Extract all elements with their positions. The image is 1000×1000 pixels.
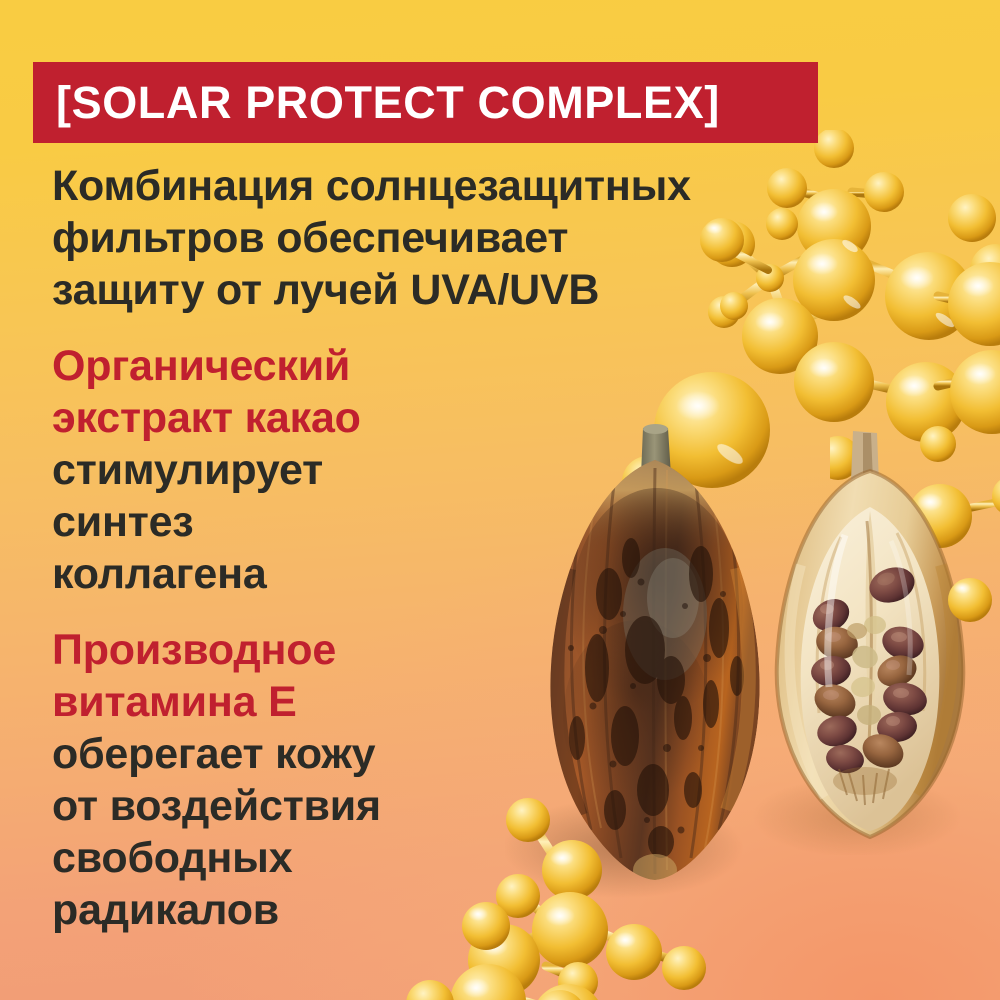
poster-canvas: [SOLAR PROTECT COMPLEX] Комбинация солнц… — [0, 0, 1000, 1000]
copy-line-accent: витамина Е — [52, 676, 852, 728]
copy-line: от воздействия — [52, 780, 852, 832]
copy-line-accent: Органический — [52, 340, 852, 392]
paragraph-uva-uvb: Комбинация солнцезащитных фильтров обесп… — [52, 160, 852, 316]
copy-line: синтез — [52, 496, 852, 548]
solar-protect-banner: [SOLAR PROTECT COMPLEX] — [33, 62, 818, 143]
copy-line: фильтров обеспечивает — [52, 212, 852, 264]
copy-line: радикалов — [52, 884, 852, 936]
copy-line: защиту от лучей UVA/UVB — [52, 264, 852, 316]
paragraph-cocoa-extract: Органический экстракт какао стимулирует … — [52, 340, 852, 600]
copy-line: Комбинация солнцезащитных — [52, 160, 852, 212]
copy-block: Комбинация солнцезащитных фильтров обесп… — [52, 160, 852, 936]
paragraph-vitamin-e: Производное витамина Е оберегает кожу от… — [52, 624, 852, 936]
copy-line: коллагена — [52, 548, 852, 600]
copy-line-accent: Производное — [52, 624, 852, 676]
copy-line: стимулирует — [52, 444, 852, 496]
copy-line: оберегает кожу — [52, 728, 852, 780]
copy-line: свободных — [52, 832, 852, 884]
copy-line-accent: экстракт какао — [52, 392, 852, 444]
banner-title: [SOLAR PROTECT COMPLEX] — [33, 80, 720, 125]
